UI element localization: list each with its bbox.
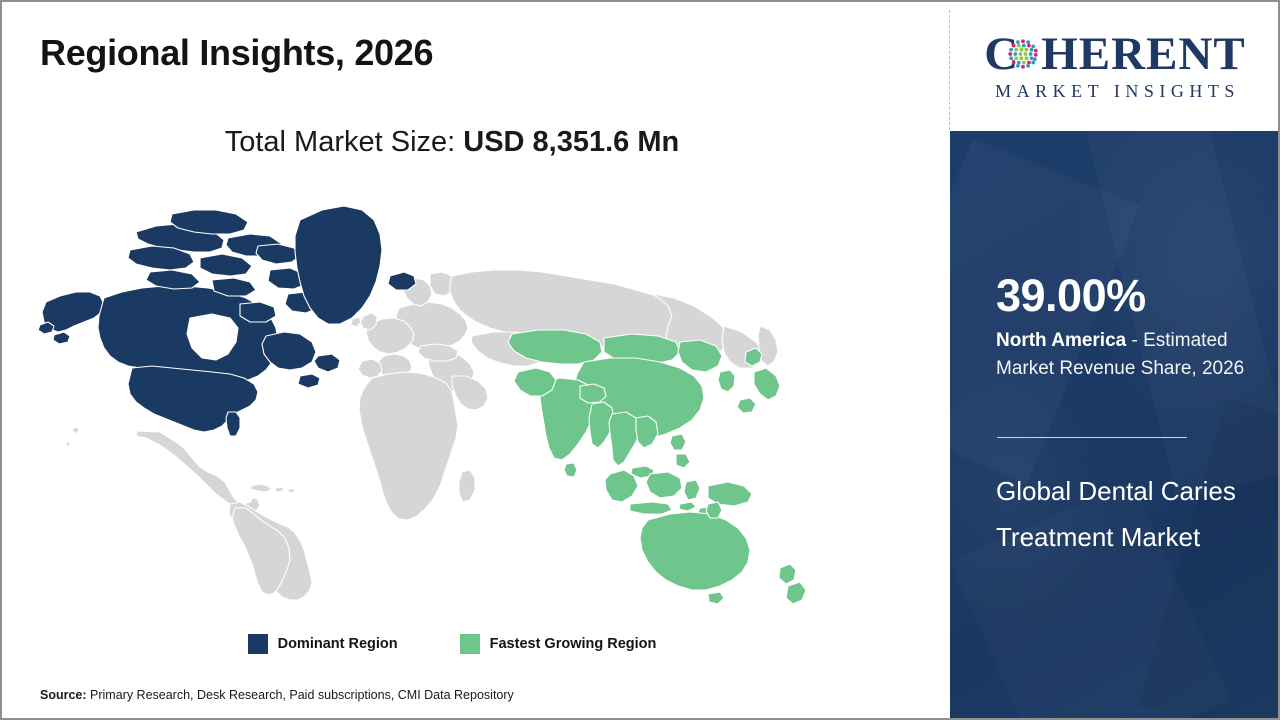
right-column: C (950, 2, 1280, 718)
source-text: Primary Research, Desk Research, Paid su… (87, 688, 514, 702)
logo-wordmark: C (984, 31, 1245, 78)
source-label: Source: (40, 688, 87, 702)
map-legend: Dominant Region Fastest Growing Region (2, 634, 902, 654)
source-note: Source: Primary Research, Desk Research,… (40, 688, 514, 702)
regional-insights-infographic: Regional Insights, 2026 Total Market Siz… (0, 0, 1280, 720)
stat-description: North America - Estimated Market Revenue… (996, 327, 1264, 383)
world-map-svg (32, 186, 842, 611)
report-title: Global Dental Caries Treatment Market (996, 469, 1246, 560)
legend-dominant-region: Dominant Region (248, 634, 398, 654)
left-content-panel: Regional Insights, 2026 Total Market Siz… (2, 2, 950, 718)
world-map-container (32, 186, 842, 611)
logo-subtitle: MARKET INSIGHTS (990, 81, 1240, 102)
page-title: Regional Insights, 2026 (40, 32, 433, 74)
legend-swatch-fastest-growing (460, 634, 480, 654)
stat-percent-value: 39.00% (996, 273, 1146, 318)
total-market-size-label: Total Market Size: (225, 126, 464, 158)
total-market-size: Total Market Size: USD 8,351.6 Mn (2, 126, 902, 159)
legend-label-dominant: Dominant Region (278, 636, 398, 652)
stat-panel: 39.00% North America - Estimated Market … (950, 131, 1280, 718)
legend-fastest-growing-region: Fastest Growing Region (460, 634, 657, 654)
stat-region-name: North America (996, 330, 1126, 351)
logo-word-rest: HERENT (1041, 31, 1246, 78)
dotted-globe-icon (1006, 37, 1040, 71)
legend-swatch-dominant (248, 634, 268, 654)
total-market-size-value: USD 8,351.6 Mn (463, 126, 679, 158)
map-region-fastest-growing-asia-pacific (508, 330, 806, 604)
brand-logo: C (950, 2, 1280, 130)
stat-divider-rule (997, 437, 1187, 438)
legend-label-fastest-growing: Fastest Growing Region (490, 636, 657, 652)
